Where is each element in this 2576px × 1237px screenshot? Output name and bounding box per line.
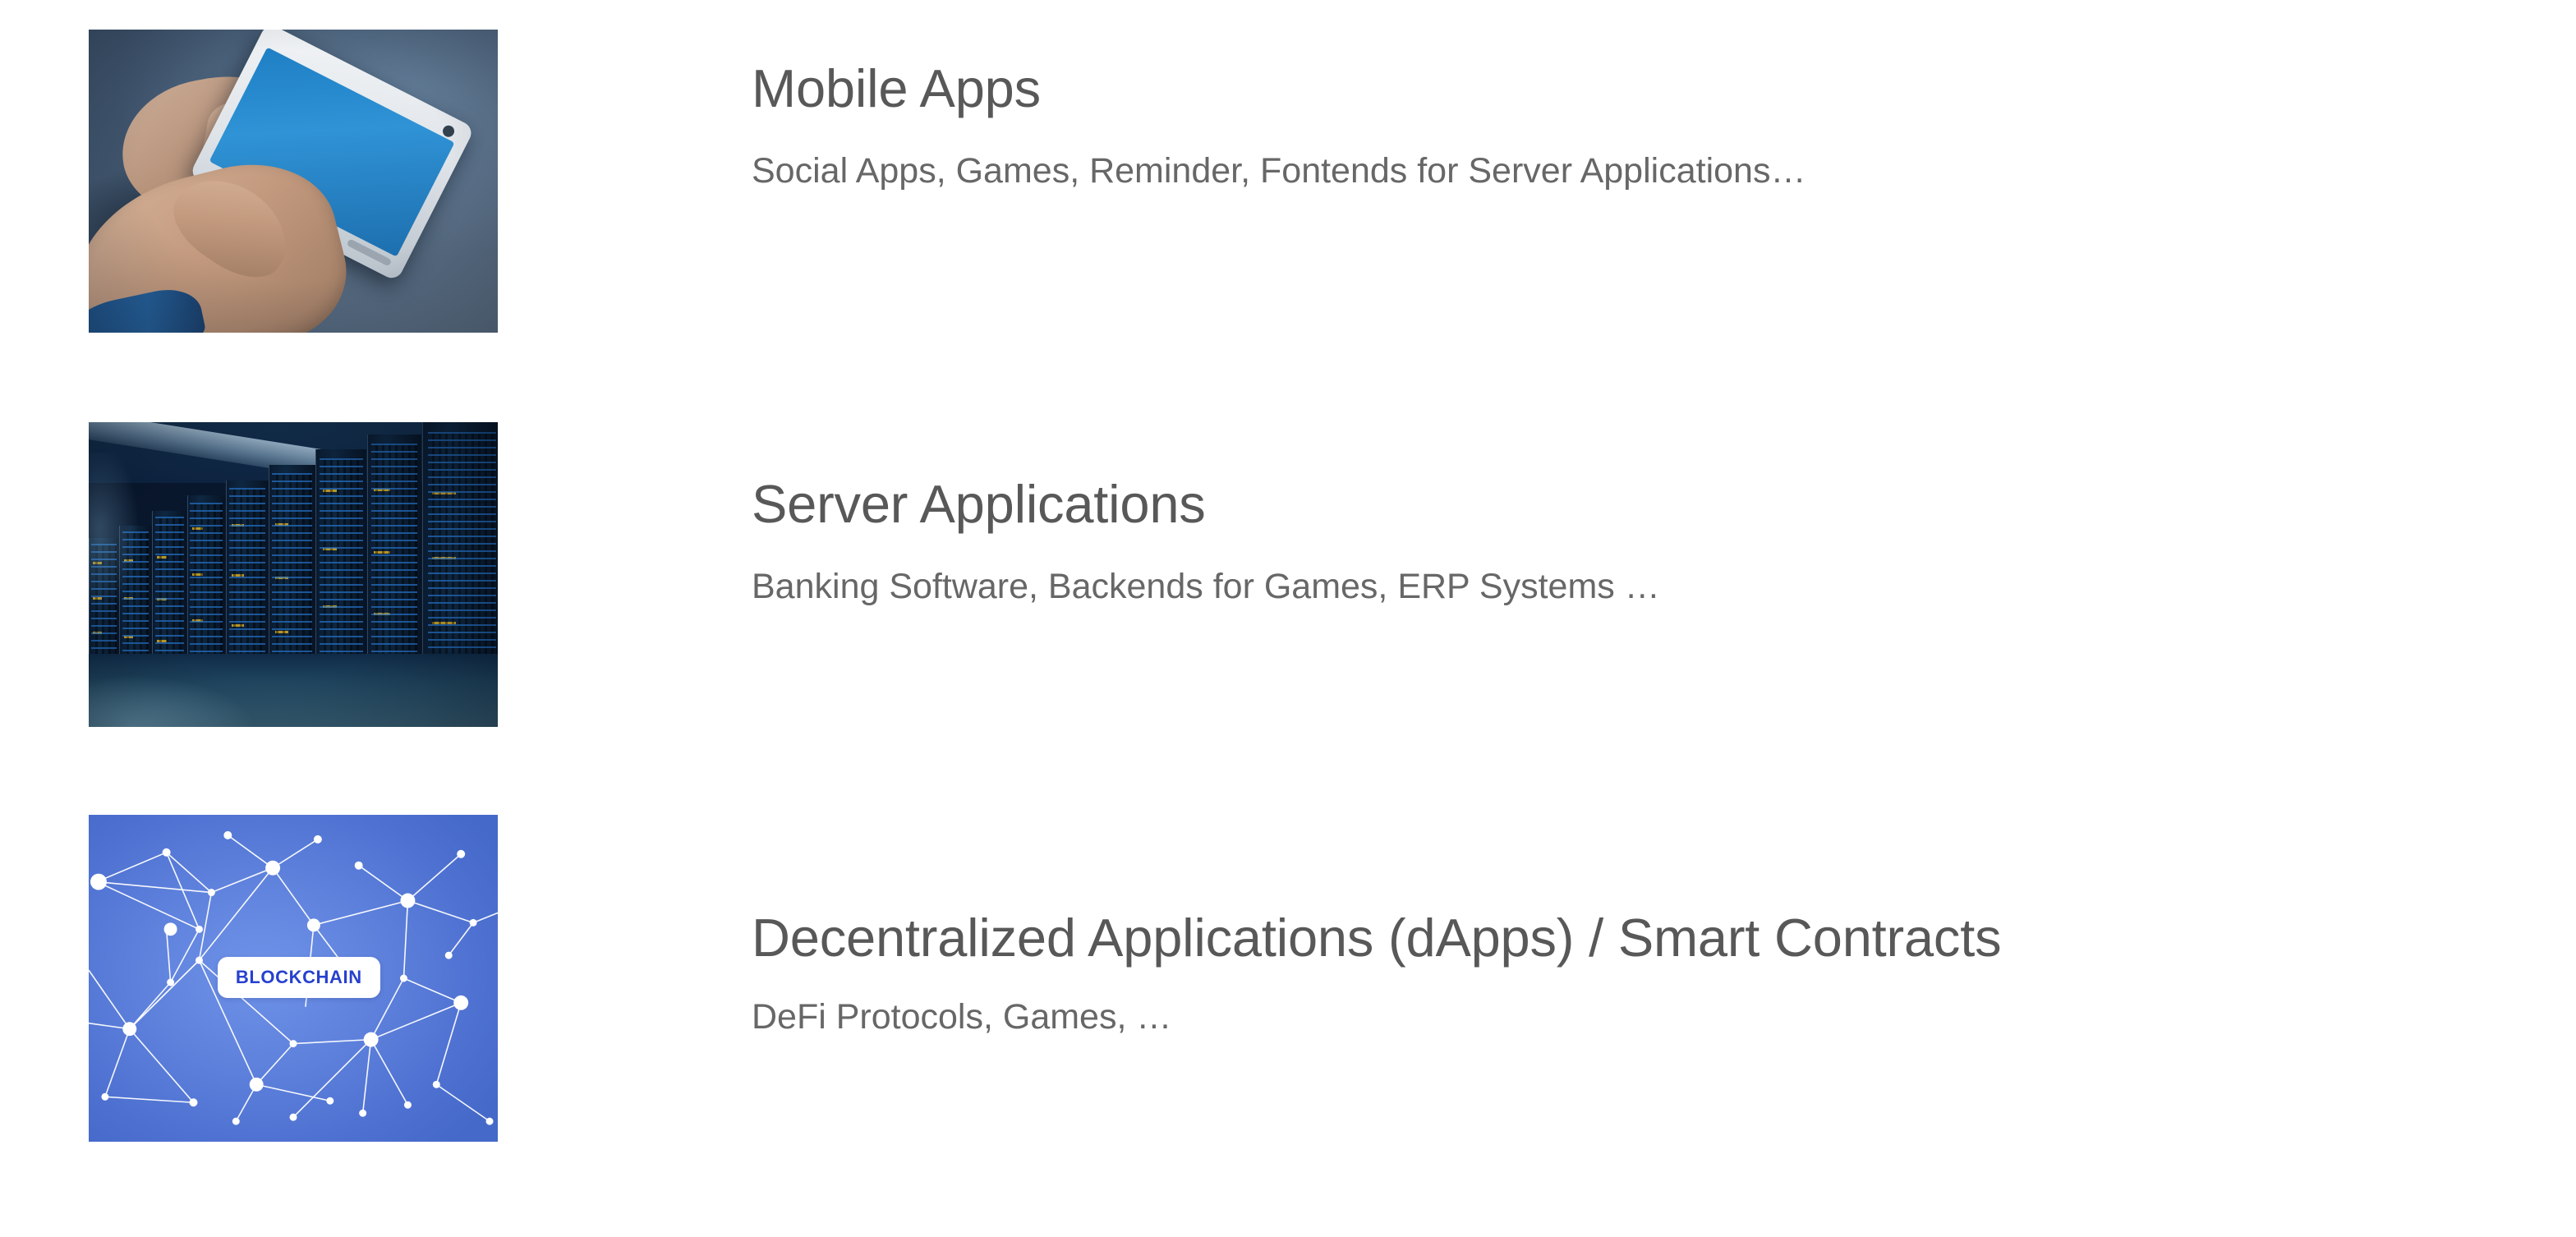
list-item[interactable]: BLOCKCHAIN Decentralized Applications (d… <box>0 785 2576 1237</box>
phone-photo-scene <box>89 30 498 333</box>
item-title: Mobile Apps <box>752 59 2518 119</box>
blockchain-network-illustration[interactable]: BLOCKCHAIN <box>89 815 498 1142</box>
server-applications-photo[interactable] <box>89 422 498 727</box>
server-applications-text: Server Applications Banking Software, Ba… <box>752 475 2518 608</box>
datacenter-photo-scene <box>89 422 498 727</box>
mobile-apps-text: Mobile Apps Social Apps, Games, Reminder… <box>752 59 2518 192</box>
blockchain-label: BLOCKCHAIN <box>218 957 380 998</box>
item-title: Decentralized Applications (dApps) / Sma… <box>752 908 2518 968</box>
photo-vignette <box>89 422 498 727</box>
blockchain-scene: BLOCKCHAIN <box>89 815 498 1142</box>
decentralized-applications-text: Decentralized Applications (dApps) / Sma… <box>752 908 2518 1038</box>
item-subtitle: Social Apps, Games, Reminder, Fontends f… <box>752 150 2518 193</box>
item-subtitle: Banking Software, Backends for Games, ER… <box>752 566 2518 609</box>
item-subtitle: DeFi Protocols, Games, … <box>752 996 2518 1039</box>
item-title: Server Applications <box>752 475 2518 535</box>
mobile-apps-photo[interactable] <box>89 30 498 333</box>
list-item[interactable]: Server Applications Banking Software, Ba… <box>0 393 2576 787</box>
photo-vignette <box>89 30 498 333</box>
content-list: Mobile Apps Social Apps, Games, Reminder… <box>0 0 2576 1237</box>
list-item[interactable]: Mobile Apps Social Apps, Games, Reminder… <box>0 0 2576 386</box>
